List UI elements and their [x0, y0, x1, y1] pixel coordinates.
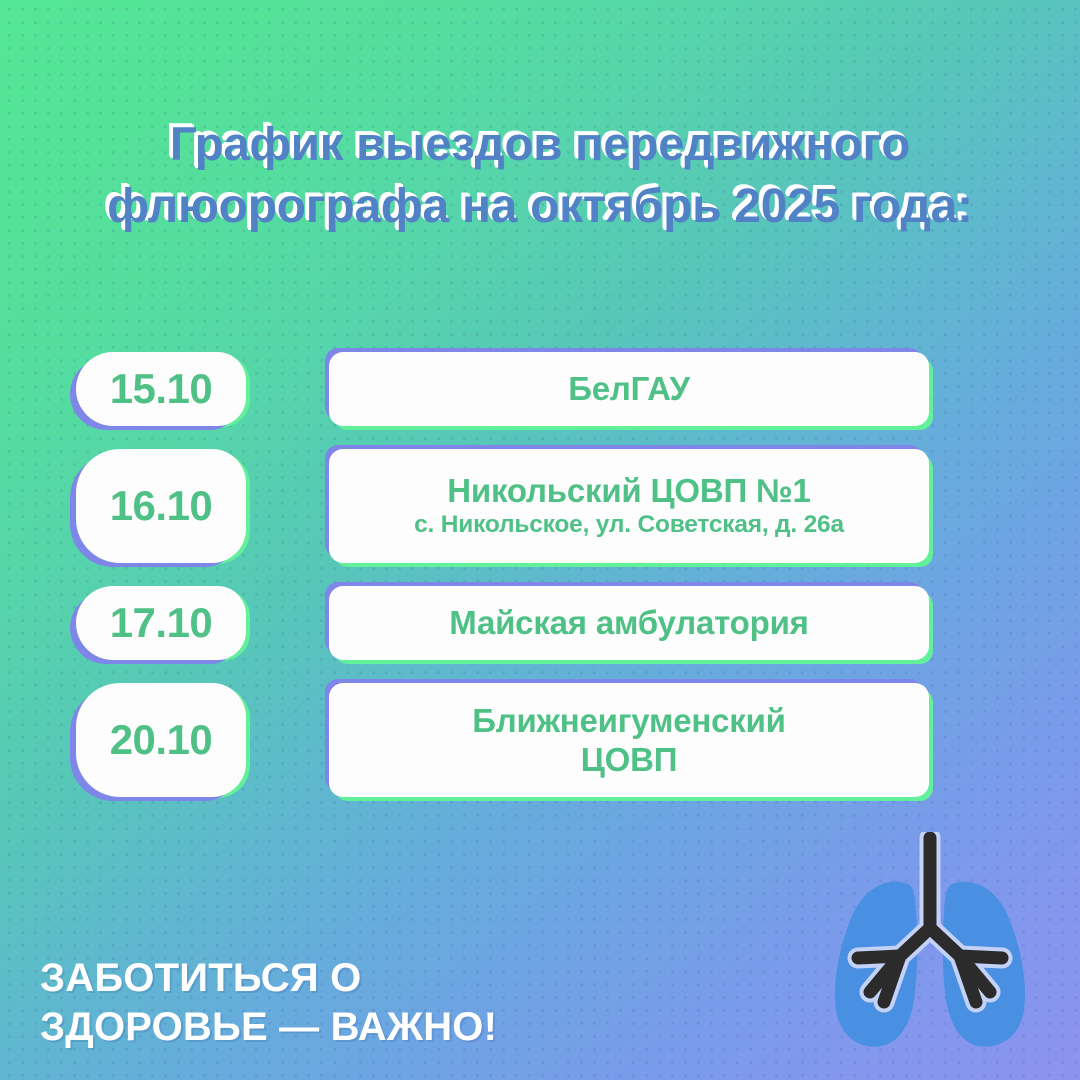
place-name: Ближнеигуменский ЦОВП — [472, 701, 786, 779]
place-name-line-1: Ближнеигуменский — [472, 702, 786, 739]
lungs-icon — [796, 832, 1064, 1072]
slogan-line-1: ЗАБОТИТЬСЯ О — [40, 954, 497, 1003]
place-name: Майская амбулатория — [449, 604, 808, 642]
schedule-row: 17.10 Майская амбулатория — [0, 586, 1080, 660]
place-address: с. Никольское, ул. Советская, д. 26а — [414, 510, 844, 540]
place-card: Майская амбулатория — [329, 586, 929, 660]
place-name-line-2: ЦОВП — [581, 741, 678, 778]
date-badge: 16.10 — [76, 449, 246, 563]
date-badge: 20.10 — [76, 683, 246, 797]
schedule-row: 15.10 БелГАУ — [0, 352, 1080, 426]
slogan: ЗАБОТИТЬСЯ О ЗДОРОВЬЕ — ВАЖНО! — [40, 954, 497, 1052]
title-line-1: График выездов передвижного — [8, 114, 1072, 176]
place-name: БелГАУ — [568, 370, 690, 408]
date-badge: 17.10 — [76, 586, 246, 660]
schedule-row: 20.10 Ближнеигуменский ЦОВП — [0, 683, 1080, 797]
place-card: БелГАУ — [329, 352, 929, 426]
page-title: График выездов передвижного флюорографа … — [0, 114, 1080, 238]
poster-canvas: График выездов передвижного флюорографа … — [0, 0, 1080, 1080]
date-badge: 15.10 — [76, 352, 246, 426]
schedule-row: 16.10 Никольский ЦОВП №1 с. Никольское, … — [0, 449, 1080, 563]
schedule-list: 15.10 БелГАУ 16.10 Никольский ЦОВП №1 с.… — [0, 352, 1080, 820]
place-card: Ближнеигуменский ЦОВП — [329, 683, 929, 797]
place-card: Никольский ЦОВП №1 с. Никольское, ул. Со… — [329, 449, 929, 563]
slogan-line-2: ЗДОРОВЬЕ — ВАЖНО! — [40, 1003, 497, 1052]
title-line-2: флюорографа на октябрь 2025 года: — [8, 176, 1072, 238]
place-name: Никольский ЦОВП №1 — [447, 472, 810, 510]
